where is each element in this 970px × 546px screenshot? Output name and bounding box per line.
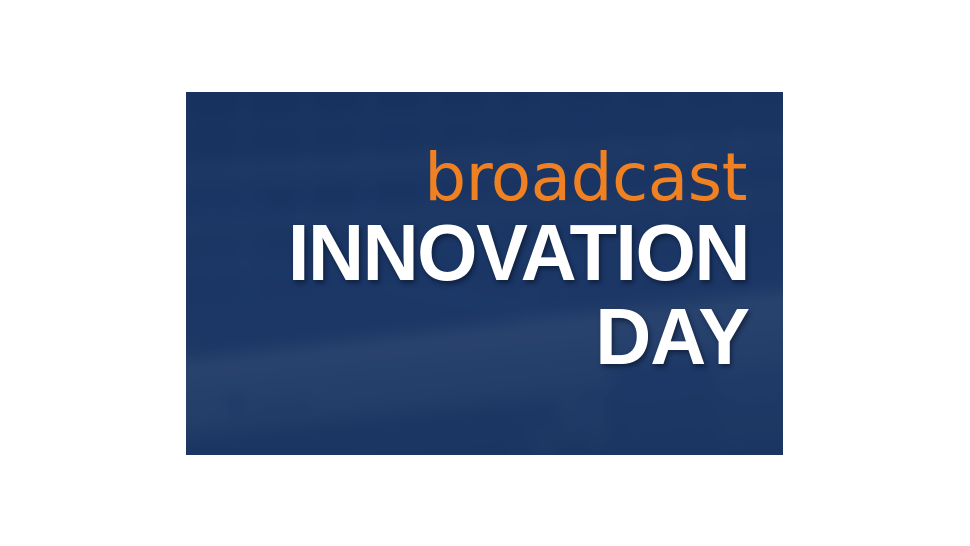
title-line-innovation: INNOVATION: [203, 213, 749, 293]
title-line-day: DAY: [203, 297, 749, 377]
page-canvas: broadcast INNOVATION DAY: [0, 0, 970, 546]
banner-title-lockup: broadcast INNOVATION DAY: [186, 92, 783, 455]
broadcast-innovation-day-banner[interactable]: broadcast INNOVATION DAY: [186, 92, 783, 455]
title-line-broadcast: broadcast: [186, 145, 747, 211]
